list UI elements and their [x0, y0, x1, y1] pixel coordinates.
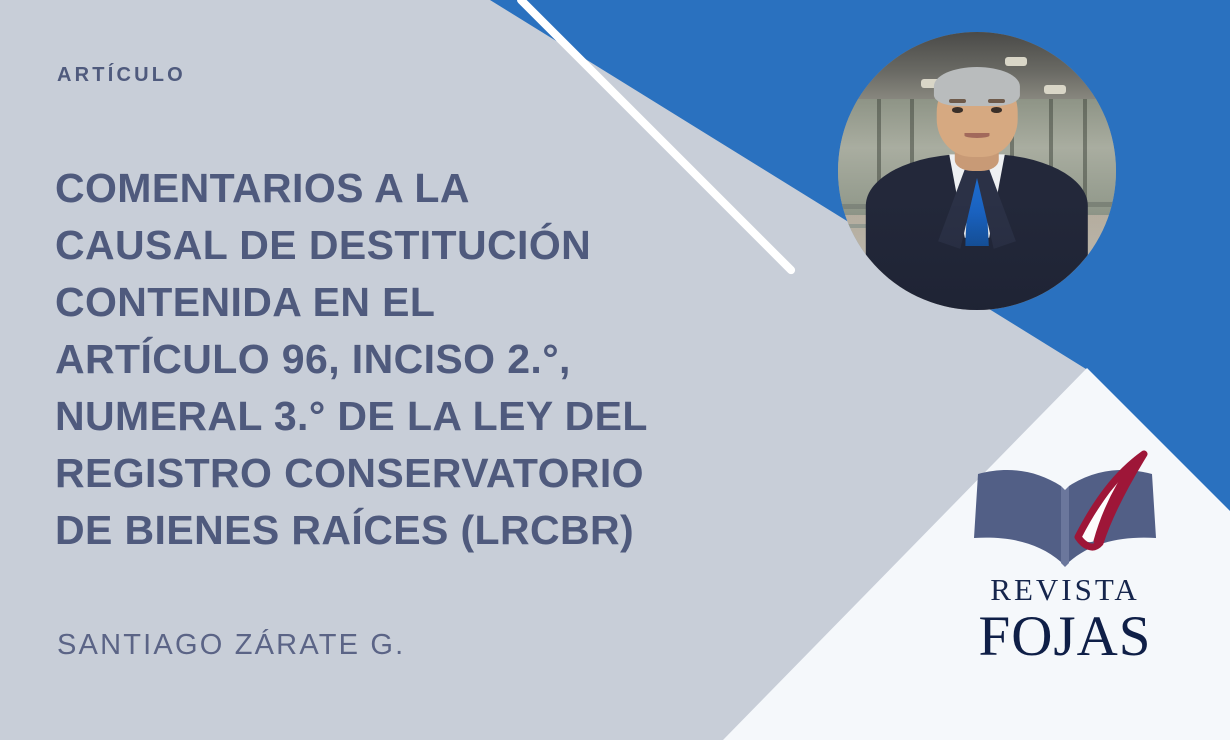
portrait-mouth [964, 133, 989, 138]
portrait-eyebrow [949, 99, 966, 103]
portrait-ceiling-lamp [1005, 57, 1027, 66]
open-book-with-quill-icon [960, 440, 1170, 570]
article-kicker-label: ARTÍCULO [57, 64, 186, 87]
logo-word-fojas: FOJAS [960, 607, 1170, 667]
author-portrait-photo [838, 32, 1116, 310]
portrait-scene [838, 32, 1116, 310]
logo-word-revista: REVISTA [960, 574, 1170, 605]
article-title: COMENTARIOS A LA CAUSAL DE DESTITUCIÓN C… [55, 160, 735, 559]
portrait-hair [934, 67, 1020, 106]
portrait-eye [952, 107, 963, 113]
portrait-eye [991, 107, 1002, 113]
article-cover: ARTÍCULO COMENTARIOS A LA CAUSAL DE DEST… [0, 0, 1230, 740]
article-author-name: SANTIAGO ZÁRATE G. [57, 629, 405, 662]
revista-fojas-logo: REVISTA FOJAS [960, 440, 1170, 690]
portrait-eyebrow [988, 99, 1005, 103]
portrait-vignette [838, 199, 1116, 310]
portrait-ceiling-lamp [1044, 85, 1066, 94]
